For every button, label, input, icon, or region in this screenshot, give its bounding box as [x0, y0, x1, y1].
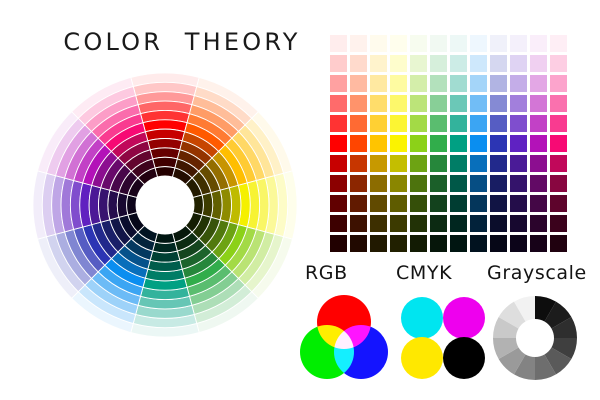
wheel-cell-red-10 [155, 167, 175, 177]
swatch-azure-8 [470, 195, 487, 212]
rgb-diagram [298, 294, 390, 382]
swatch-green-10 [430, 235, 447, 252]
grayscale-label: Grayscale [487, 262, 587, 284]
swatch-violet-8 [510, 195, 527, 212]
swatch-azure-3 [470, 95, 487, 112]
swatch-yellow-green-2 [410, 75, 427, 92]
swatch-spring-green-1 [450, 55, 467, 72]
swatch-purple-1 [530, 55, 547, 72]
swatch-violet-9 [510, 215, 527, 232]
swatch-rose-5 [550, 135, 567, 152]
swatch-blue-5 [490, 135, 507, 152]
swatch-azure-5 [470, 135, 487, 152]
swatch-green-6 [430, 155, 447, 172]
cmyk-circle-yellow [401, 337, 443, 379]
swatch-red-0 [330, 35, 347, 52]
swatch-green-5 [430, 135, 447, 152]
swatch-violet-0 [510, 35, 527, 52]
swatch-rose-10 [550, 235, 567, 252]
swatch-spring-green-7 [450, 175, 467, 192]
swatch-yellow-8 [390, 195, 407, 212]
swatch-azure-9 [470, 215, 487, 232]
swatch-amber-0 [370, 35, 387, 52]
swatch-violet-5 [510, 135, 527, 152]
swatch-orange-red-10 [350, 235, 367, 252]
swatch-grid [330, 35, 567, 252]
rgb-circles [300, 295, 388, 379]
swatch-amber-8 [370, 195, 387, 212]
swatch-green-4 [430, 115, 447, 132]
swatch-orange-red-3 [350, 95, 367, 112]
cmyk-grid-svg [400, 296, 486, 380]
swatch-purple-3 [530, 95, 547, 112]
swatch-purple-8 [530, 195, 547, 212]
swatch-blue-8 [490, 195, 507, 212]
swatch-green-7 [430, 175, 447, 192]
rgb-venn-svg [298, 294, 390, 382]
swatch-amber-6 [370, 155, 387, 172]
swatch-orange-red-1 [350, 55, 367, 72]
swatch-azure-6 [470, 155, 487, 172]
swatch-red-4 [330, 115, 347, 132]
swatch-purple-5 [530, 135, 547, 152]
color-wheel-svg [32, 72, 298, 338]
cmyk-circle-key [443, 337, 485, 379]
wheel-cell-spring-green-10 [155, 233, 175, 243]
swatch-orange-red-7 [350, 175, 367, 192]
swatch-azure-0 [470, 35, 487, 52]
swatch-spring-green-10 [450, 235, 467, 252]
swatch-amber-1 [370, 55, 387, 72]
swatch-orange-red-5 [350, 135, 367, 152]
swatch-spring-green-9 [450, 215, 467, 232]
swatch-red-1 [330, 55, 347, 72]
swatch-blue-1 [490, 55, 507, 72]
swatch-red-5 [330, 135, 347, 152]
swatch-yellow-1 [390, 55, 407, 72]
swatch-orange-red-2 [350, 75, 367, 92]
swatch-rose-6 [550, 155, 567, 172]
cmyk-circles [401, 297, 485, 379]
swatch-yellow-green-5 [410, 135, 427, 152]
swatch-violet-1 [510, 55, 527, 72]
swatch-red-3 [330, 95, 347, 112]
swatch-blue-4 [490, 115, 507, 132]
swatch-azure-2 [470, 75, 487, 92]
swatch-purple-10 [530, 235, 547, 252]
swatch-amber-9 [370, 215, 387, 232]
swatch-red-10 [330, 235, 347, 252]
cmyk-circle-magenta [443, 297, 485, 339]
swatch-blue-2 [490, 75, 507, 92]
swatch-yellow-10 [390, 235, 407, 252]
swatch-purple-6 [530, 155, 547, 172]
swatch-yellow-2 [390, 75, 407, 92]
swatch-azure-7 [470, 175, 487, 192]
swatch-violet-7 [510, 175, 527, 192]
swatch-blue-3 [490, 95, 507, 112]
swatch-rose-0 [550, 35, 567, 52]
swatch-red-7 [330, 175, 347, 192]
swatch-spring-green-0 [450, 35, 467, 52]
swatch-orange-red-4 [350, 115, 367, 132]
swatch-violet-6 [510, 155, 527, 172]
swatch-amber-3 [370, 95, 387, 112]
swatch-azure-4 [470, 115, 487, 132]
swatch-rose-7 [550, 175, 567, 192]
cmyk-circle-cyan [401, 297, 443, 339]
swatch-yellow-0 [390, 35, 407, 52]
swatch-green-3 [430, 95, 447, 112]
swatch-amber-5 [370, 135, 387, 152]
swatch-rose-9 [550, 215, 567, 232]
swatch-rose-4 [550, 115, 567, 132]
swatch-yellow-7 [390, 175, 407, 192]
swatch-purple-4 [530, 115, 547, 132]
cmyk-label: CMYK [396, 262, 452, 284]
swatch-red-8 [330, 195, 347, 212]
swatch-blue-9 [490, 215, 507, 232]
swatch-yellow-5 [390, 135, 407, 152]
swatch-yellow-9 [390, 215, 407, 232]
cmyk-diagram [400, 296, 486, 380]
swatch-rose-3 [550, 95, 567, 112]
swatch-yellow-green-9 [410, 215, 427, 232]
swatch-purple-9 [530, 215, 547, 232]
swatch-yellow-green-1 [410, 55, 427, 72]
swatch-blue-6 [490, 155, 507, 172]
swatch-spring-green-8 [450, 195, 467, 212]
swatch-orange-red-9 [350, 215, 367, 232]
swatch-purple-0 [530, 35, 547, 52]
swatch-green-2 [430, 75, 447, 92]
swatch-yellow-green-8 [410, 195, 427, 212]
swatch-green-8 [430, 195, 447, 212]
swatch-spring-green-5 [450, 135, 467, 152]
grayscale-segments [493, 296, 577, 380]
color-wheel [32, 72, 298, 338]
swatch-spring-green-4 [450, 115, 467, 132]
swatch-spring-green-3 [450, 95, 467, 112]
swatch-violet-3 [510, 95, 527, 112]
swatch-spring-green-6 [450, 155, 467, 172]
swatch-orange-red-8 [350, 195, 367, 212]
swatch-spring-green-2 [450, 75, 467, 92]
swatch-rose-8 [550, 195, 567, 212]
swatch-blue-7 [490, 175, 507, 192]
swatch-orange-red-0 [350, 35, 367, 52]
swatch-yellow-6 [390, 155, 407, 172]
swatch-green-0 [430, 35, 447, 52]
swatch-violet-4 [510, 115, 527, 132]
swatch-violet-10 [510, 235, 527, 252]
swatch-amber-2 [370, 75, 387, 92]
swatch-amber-10 [370, 235, 387, 252]
swatch-yellow-green-7 [410, 175, 427, 192]
swatch-yellow-green-10 [410, 235, 427, 252]
swatch-yellow-4 [390, 115, 407, 132]
page-title: COLOR THEORY [62, 28, 302, 56]
swatch-azure-1 [470, 55, 487, 72]
swatch-yellow-green-0 [410, 35, 427, 52]
swatch-blue-10 [490, 235, 507, 252]
swatch-yellow-green-3 [410, 95, 427, 112]
swatch-rose-1 [550, 55, 567, 72]
swatch-red-6 [330, 155, 347, 172]
swatch-yellow-green-6 [410, 155, 427, 172]
color-wheel-hub [136, 176, 194, 234]
swatch-yellow-3 [390, 95, 407, 112]
grayscale-donut-svg [491, 294, 579, 382]
swatch-amber-4 [370, 115, 387, 132]
grayscale-diagram [491, 294, 579, 382]
swatch-red-9 [330, 215, 347, 232]
swatch-red-2 [330, 75, 347, 92]
infographic-canvas: COLOR THEORY RGB CMYK Grayscale [0, 0, 600, 400]
swatch-amber-7 [370, 175, 387, 192]
swatch-rose-2 [550, 75, 567, 92]
swatch-blue-0 [490, 35, 507, 52]
swatch-azure-10 [470, 235, 487, 252]
rgb-circle-blue [334, 325, 388, 379]
swatch-purple-7 [530, 175, 547, 192]
swatch-violet-2 [510, 75, 527, 92]
rgb-label: RGB [305, 262, 348, 284]
swatch-purple-2 [530, 75, 547, 92]
swatch-green-9 [430, 215, 447, 232]
swatch-yellow-green-4 [410, 115, 427, 132]
wheel-cell-violet-10 [127, 195, 137, 215]
swatch-orange-red-6 [350, 155, 367, 172]
swatch-green-1 [430, 55, 447, 72]
wheel-cell-yellow-10 [193, 195, 203, 215]
